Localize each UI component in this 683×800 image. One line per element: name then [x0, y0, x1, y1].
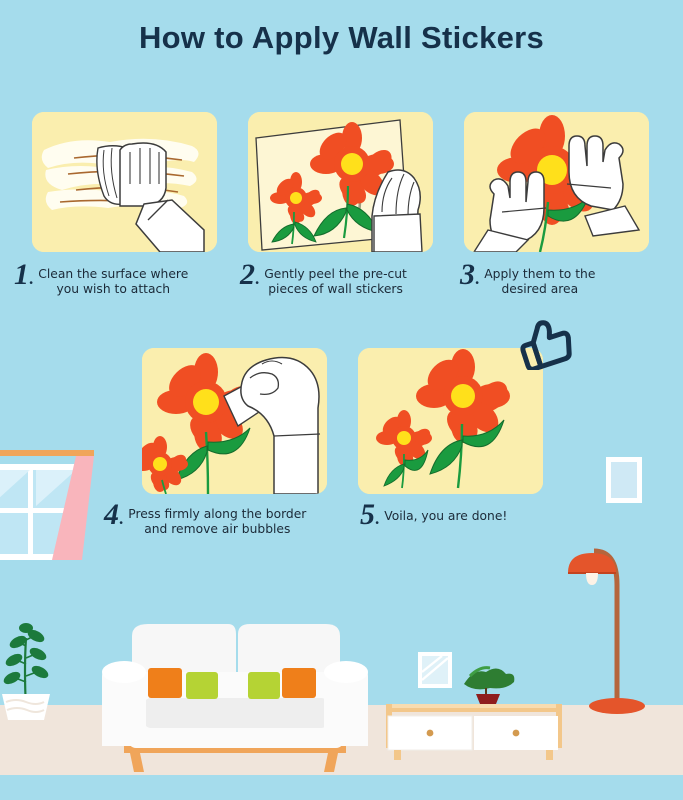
- window: [0, 450, 110, 570]
- step-number-3: 3.: [460, 262, 479, 292]
- sofa: [100, 620, 370, 790]
- curtain-rod: [0, 450, 94, 456]
- step-text-1: Clean the surface where you wish to atta…: [38, 262, 188, 297]
- step-panel-1: [32, 112, 217, 252]
- pillow-1: [148, 668, 182, 698]
- illustration-peel-stickers: [248, 112, 433, 252]
- step-caption-3: 3. Apply them to the desired area: [460, 262, 670, 297]
- illustration-clean-surface: [32, 112, 217, 252]
- step-panel-3: [464, 112, 649, 252]
- bottom-band: [0, 775, 683, 800]
- floor-lamp: [560, 507, 650, 717]
- step-caption-2: 2. Gently peel the pre-cut pieces of wal…: [240, 262, 462, 297]
- potted-plant: [0, 590, 58, 720]
- step-panel-2: [248, 112, 433, 252]
- wall-picture: [606, 457, 646, 507]
- step-number-1: 1.: [14, 262, 33, 292]
- pillow-2: [186, 672, 218, 699]
- step-text-2: Gently peel the pre-cut pieces of wall s…: [264, 262, 407, 297]
- step-text-3: Apply them to the desired area: [484, 262, 595, 297]
- drawer-handle-left: [427, 730, 434, 737]
- step-number-2: 2.: [240, 262, 259, 292]
- bonsai-plant: [464, 668, 514, 704]
- room-scene: [0, 430, 683, 800]
- thumbs-up-icon: [518, 316, 580, 375]
- sideboard: [386, 630, 562, 760]
- drawer-handle-right: [513, 730, 520, 737]
- pillow-3: [248, 672, 280, 699]
- illustration-apply-sticker: [464, 112, 649, 252]
- infographic-canvas: How to Apply Wall Stickers: [0, 0, 683, 800]
- pillow-4: [282, 668, 316, 698]
- step-caption-1: 1. Clean the surface where you wish to a…: [14, 262, 234, 297]
- page-title: How to Apply Wall Stickers: [0, 20, 683, 56]
- lamp-base: [589, 698, 645, 714]
- plant-pot: [2, 694, 50, 720]
